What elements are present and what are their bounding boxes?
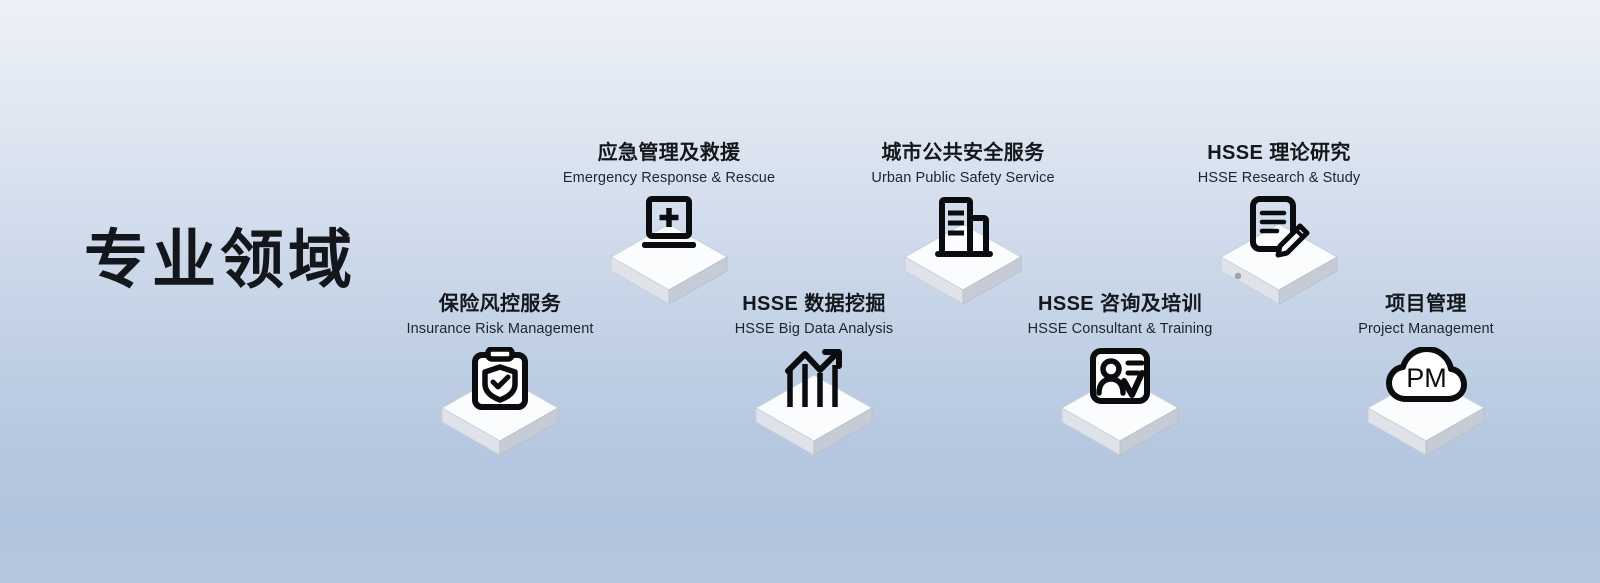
field-label-cn: HSSE 理论研究 [1129, 142, 1429, 165]
field-label-cn: HSSE 数据挖掘 [664, 293, 964, 316]
field-label-cn: 应急管理及救援 [519, 142, 819, 165]
field-label-cn: 城市公共安全服务 [813, 142, 1113, 165]
field-label-cn: 保险风控服务 [350, 293, 650, 316]
field-card-labels: 项目管理 Project Management [1276, 293, 1576, 339]
field-icon-pedestal [350, 347, 650, 457]
professional-fields-banner: 专业领域 应急管理及救援 Emergency Response & Rescue [0, 0, 1600, 583]
field-card-bigdata[interactable]: HSSE 数据挖掘 HSSE Big Data Analysis [664, 293, 964, 457]
field-icon-pedestal [970, 347, 1270, 457]
field-card-urban[interactable]: 城市公共安全服务 Urban Public Safety Service [813, 142, 1113, 306]
field-icon-pedestal [1129, 196, 1429, 306]
field-label-en: Emergency Response & Rescue [519, 168, 819, 188]
field-label-en: HSSE Big Data Analysis [664, 319, 964, 339]
city-buildings-icon [915, 196, 1011, 282]
field-card-consult[interactable]: HSSE 咨询及培训 HSSE Consultant & Training [970, 293, 1270, 457]
page-title: 专业领域 [84, 228, 356, 292]
field-card-labels: 保险风控服务 Insurance Risk Management [350, 293, 650, 339]
field-label-en: Urban Public Safety Service [813, 168, 1113, 188]
field-label-cn: HSSE 咨询及培训 [970, 293, 1270, 316]
document-pencil-icon [1231, 196, 1327, 282]
field-label-en: Insurance Risk Management [350, 319, 650, 339]
field-icon-pedestal [664, 347, 964, 457]
cloud-pm-icon: PM [1378, 347, 1474, 433]
field-icon-pedestal [813, 196, 1113, 306]
field-label-en: HSSE Research & Study [1129, 168, 1429, 188]
clipboard-shield-check-icon [452, 347, 548, 433]
field-card-labels: HSSE 理论研究 HSSE Research & Study [1129, 142, 1429, 188]
field-card-labels: 城市公共安全服务 Urban Public Safety Service [813, 142, 1113, 188]
field-icon-pedestal: PM [1276, 347, 1576, 457]
field-card-labels: HSSE 咨询及培训 HSSE Consultant & Training [970, 293, 1270, 339]
field-card-research[interactable]: HSSE 理论研究 HSSE Research & Study [1129, 142, 1429, 306]
cloud-pm-label: PM [1406, 363, 1447, 393]
field-icon-pedestal [519, 196, 819, 306]
field-card-labels: 应急管理及救援 Emergency Response & Rescue [519, 142, 819, 188]
field-card-emergency[interactable]: 应急管理及救援 Emergency Response & Rescue [519, 142, 819, 306]
field-label-cn: 项目管理 [1276, 293, 1576, 316]
field-card-labels: HSSE 数据挖掘 HSSE Big Data Analysis [664, 293, 964, 339]
field-card-project[interactable]: 项目管理 Project Management PM [1276, 293, 1576, 457]
first-aid-monitor-icon [621, 196, 717, 282]
field-card-insurance[interactable]: 保险风控服务 Insurance Risk Management [350, 293, 650, 457]
person-certificate-icon [1072, 347, 1168, 433]
bar-chart-trend-up-icon [766, 347, 862, 433]
field-label-en: Project Management [1276, 319, 1576, 339]
field-label-en: HSSE Consultant & Training [970, 319, 1270, 339]
